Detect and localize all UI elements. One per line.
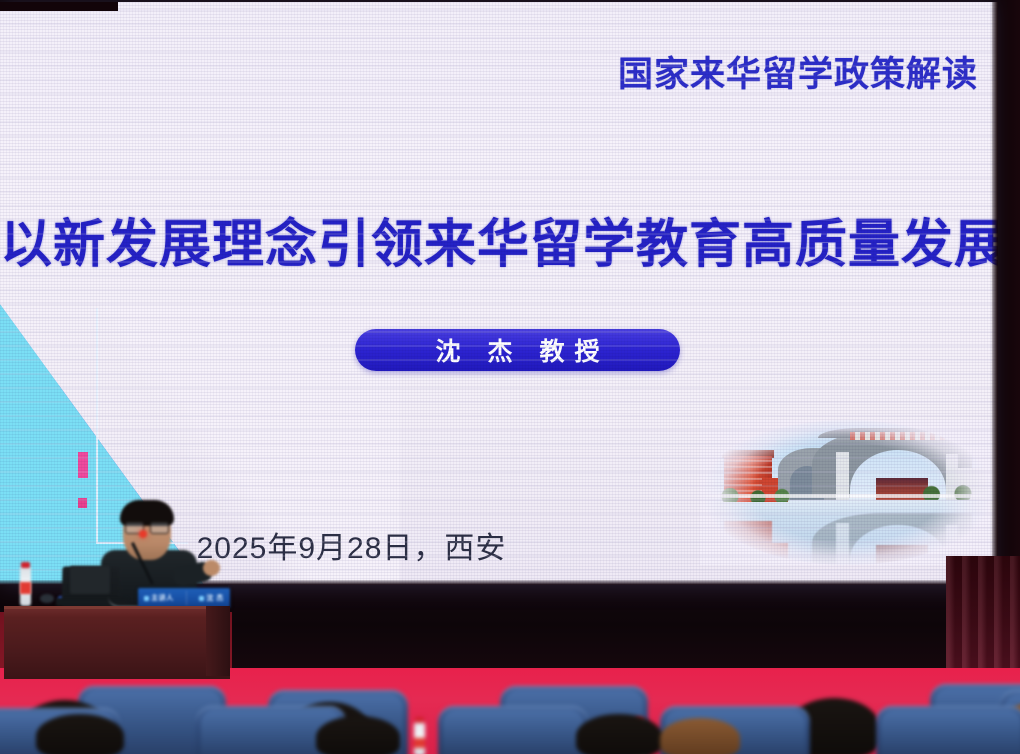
audience-head [316, 716, 400, 754]
laptop-screen [70, 566, 110, 594]
deco-pink-accent-small [78, 498, 87, 508]
bottle-cap [21, 562, 30, 568]
nameplate-role-cell: 主讲人 [144, 593, 174, 603]
deco-pink-accent [78, 452, 88, 478]
microphone-tip-light [139, 530, 147, 538]
nameplate-name-text: 沈 杰 [206, 593, 223, 603]
audience-seat [438, 706, 588, 754]
audience-head [36, 714, 124, 754]
speaker-name-text: 沈 杰 教授 [426, 332, 610, 368]
audience-head [576, 714, 662, 754]
screen-top-notch [0, 2, 118, 11]
slide-date-text: 2025年9月28日，西安 [197, 523, 507, 567]
slide-main-title: 以新发展理念引领来华留学教育高质量发展 [0, 202, 998, 277]
nameplate-logo-icon [144, 596, 149, 601]
audience-seat [876, 706, 1020, 754]
bottle-label [20, 582, 31, 594]
speaker-nameplate: 主讲人 沈 杰 [138, 588, 230, 608]
speaker-name-pill: 沈 杰 教授 [355, 329, 680, 371]
speaker-hand [203, 560, 220, 576]
computer-mouse [40, 594, 54, 603]
lecture-hall-photo: 国家来华留学政策解读 以新发展理念引领来华留学教育高质量发展 沈 杰 教授 20… [0, 0, 1020, 754]
audience-head [660, 718, 740, 754]
nameplate-logo-icon-2 [199, 596, 204, 601]
glasses-icon [125, 522, 169, 532]
nameplate-role-text: 主讲人 [151, 593, 174, 603]
audience-front-row [0, 716, 1020, 754]
slide-header-text: 国家来华留学政策解读 [618, 46, 978, 97]
nameplate-divider [186, 591, 187, 605]
podium-table [4, 606, 230, 679]
nameplate-name-cell: 沈 杰 [199, 593, 223, 603]
side-curtain-upper [990, 0, 1020, 600]
podium-table-side [206, 606, 230, 676]
